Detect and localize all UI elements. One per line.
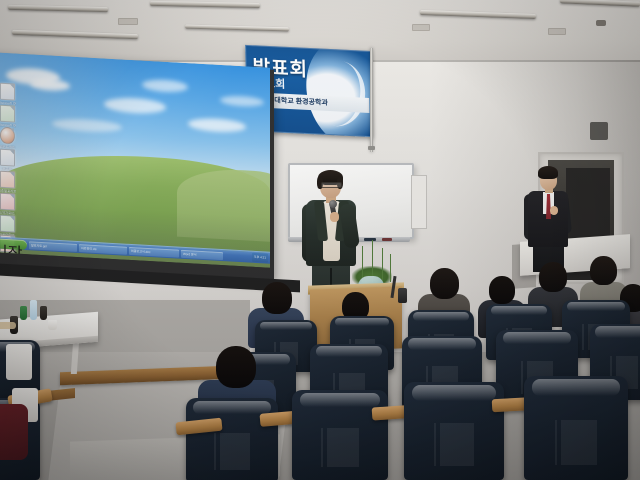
coat-on-seat: [0, 404, 28, 460]
ceiling-light: [8, 5, 108, 12]
attendee-in-suit: [524, 166, 572, 270]
banner-pole-cap: [368, 146, 375, 150]
screen-glare: [0, 52, 270, 268]
ceiling-light: [420, 10, 536, 19]
eyeglasses: [321, 182, 342, 188]
auditorium-seat[interactable]: [524, 376, 628, 480]
photo-scene: 발표회 발표회 : 대구대학교 환경공학과 Microsoft Office W…: [0, 0, 640, 480]
hand: [550, 206, 558, 215]
green-can: [20, 306, 27, 320]
ceiling-light: [560, 0, 640, 7]
hair: [538, 166, 558, 179]
coffee-can: [398, 288, 407, 303]
ceiling-vent: [548, 28, 566, 35]
paper-cup: [48, 320, 57, 330]
ceiling-light: [12, 30, 138, 39]
banner-support-pole: [370, 48, 373, 152]
water-bottle: [30, 300, 37, 320]
snack-item: [0, 322, 16, 329]
auditorium-seat[interactable]: [292, 390, 388, 480]
ceiling-light: [185, 25, 289, 32]
auditorium-seat[interactable]: [404, 382, 504, 480]
white-bag: [6, 344, 32, 380]
ceiling-sprinkler: [596, 20, 606, 26]
ceiling-vent: [118, 18, 138, 25]
ceiling-vent: [412, 24, 430, 31]
wall-panel: [411, 175, 427, 229]
dark-can: [40, 306, 47, 320]
projection-screen[interactable]: Microsoft Office W... Microsoft Office E…: [0, 52, 270, 268]
microphone-head: [329, 200, 337, 208]
ceiling-light: [150, 1, 260, 8]
wall-speaker: [590, 122, 608, 140]
hand: [330, 212, 339, 222]
auditorium-seat[interactable]: [186, 398, 278, 480]
